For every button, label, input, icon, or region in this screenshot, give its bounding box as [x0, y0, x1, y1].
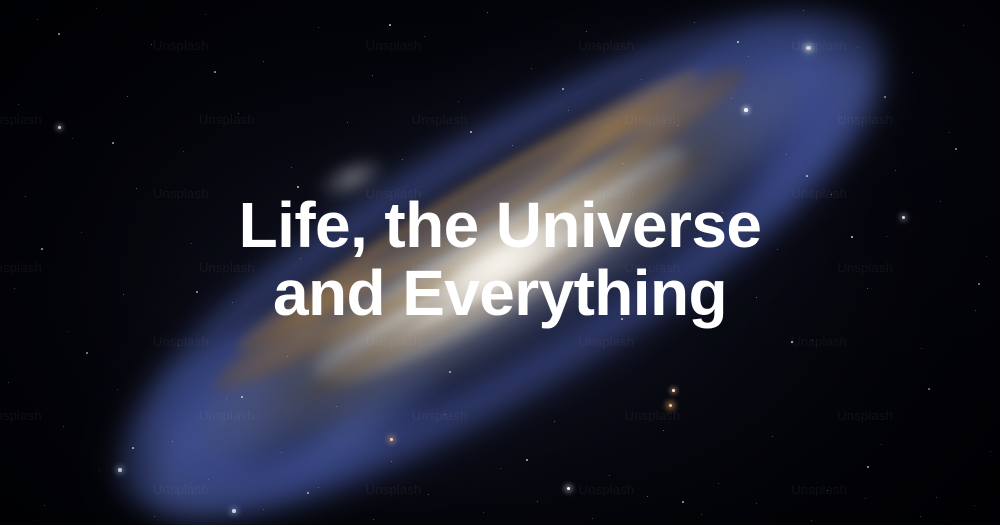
page-title: Life, the Universe and Everything — [0, 191, 1000, 327]
bright-star — [744, 108, 748, 112]
bright-star — [567, 487, 570, 490]
hero-banner: UnsplashUnsplashUnsplashUnsplashUnsplash… — [0, 0, 1000, 525]
bright-star — [118, 468, 122, 472]
bright-star — [390, 438, 393, 441]
bright-star — [58, 126, 61, 129]
bright-star — [806, 46, 811, 50]
bright-star — [672, 389, 675, 392]
headline-line-1: Life, the Universe — [0, 191, 1000, 259]
bright-star — [232, 509, 236, 513]
bright-star — [669, 404, 672, 407]
headline-line-2: and Everything — [0, 259, 1000, 327]
